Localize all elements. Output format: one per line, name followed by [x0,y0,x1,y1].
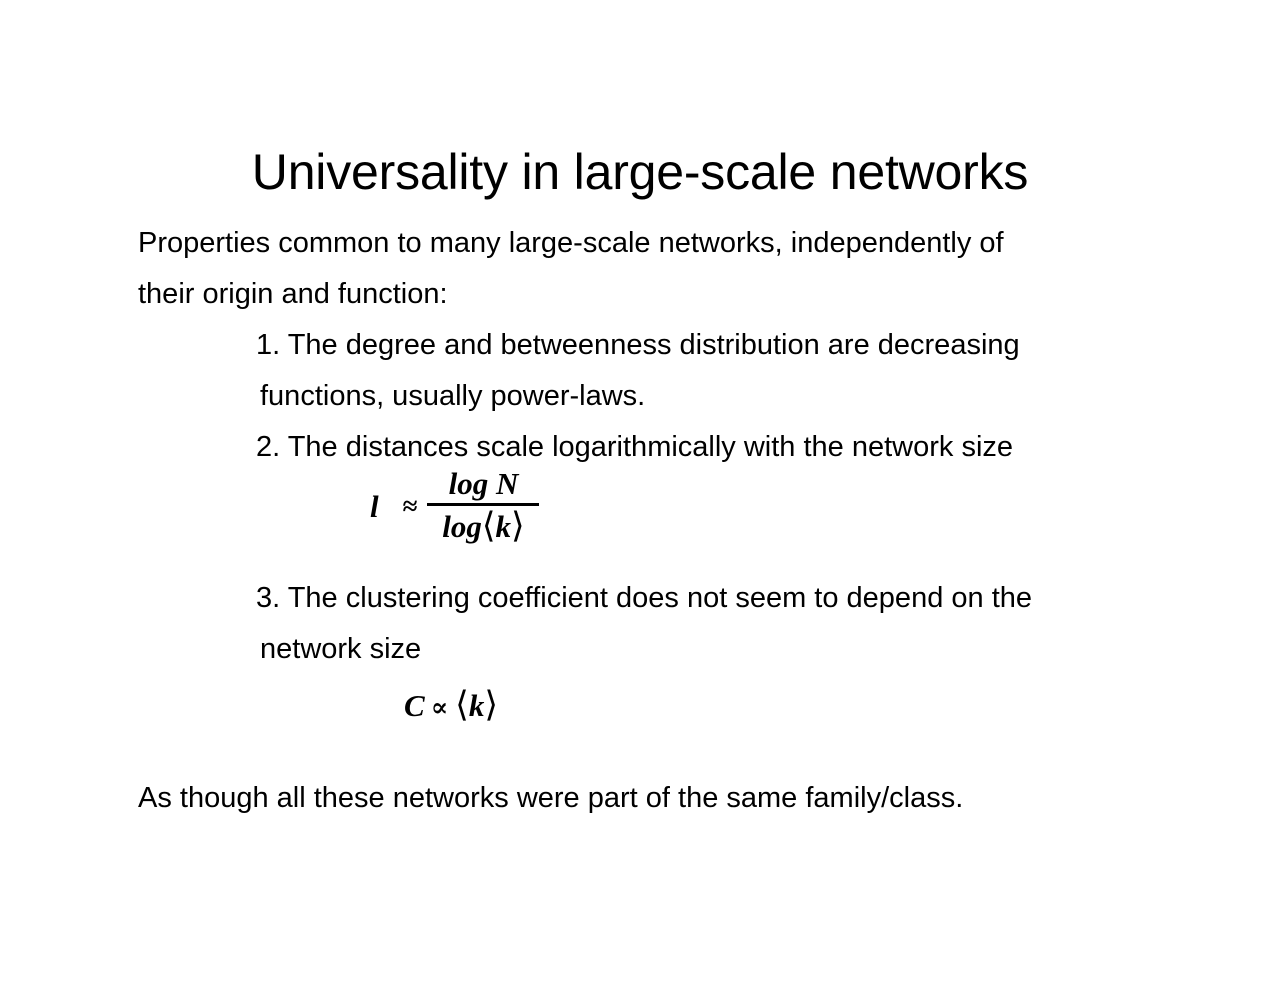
slide-canvas: Universality in large-scale networks Pro… [0,0,1280,989]
denominator-log-label: log [442,509,482,544]
equation-path-length-lhs: l [370,491,403,522]
proportional-to-icon: ∝ [425,693,455,722]
equation-clustering-k-symbol: k [469,688,485,723]
page-title: Universality in large-scale networks [0,142,1280,202]
intro-line-1: Properties common to many large-scale ne… [138,218,1148,269]
angle-bracket-close-icon: ⟩ [511,506,525,545]
equation-path-length-numerator: log N [443,466,525,503]
approximately-equal-icon: ≈ [403,493,428,520]
equation-path-length-fraction: log N log⟨k⟩ [427,466,539,546]
list-item-1-line-1: 1. The degree and betweenness distributi… [138,320,1148,371]
denominator-k-symbol: k [496,509,512,544]
angle-bracket-close-icon: ⟩ [484,685,498,724]
list-item-3-line-2: network size [138,624,1148,675]
list-item-1-line-2: functions, usually power-laws. [138,371,1148,422]
equation-clustering-lhs: C [404,688,425,723]
equation-1-spacer [138,473,1148,573]
angle-bracket-open-icon: ⟨ [455,685,469,724]
intro-line-2: their origin and function: [138,269,1148,320]
list-item-3-line-1: 3. The clustering coefficient does not s… [138,573,1148,624]
equation-path-length: l ≈ log N log⟨k⟩ [370,466,539,546]
closing-statement: As though all these networks were part o… [138,778,963,818]
equation-path-length-denominator: log⟨k⟩ [436,506,530,546]
slide-body: Properties common to many large-scale ne… [138,218,1148,675]
angle-bracket-open-icon: ⟨ [482,506,496,545]
list-item-2-line-1: 2. The distances scale logarithmically w… [138,422,1148,473]
equation-clustering: C∝⟨k⟩ [404,685,498,728]
